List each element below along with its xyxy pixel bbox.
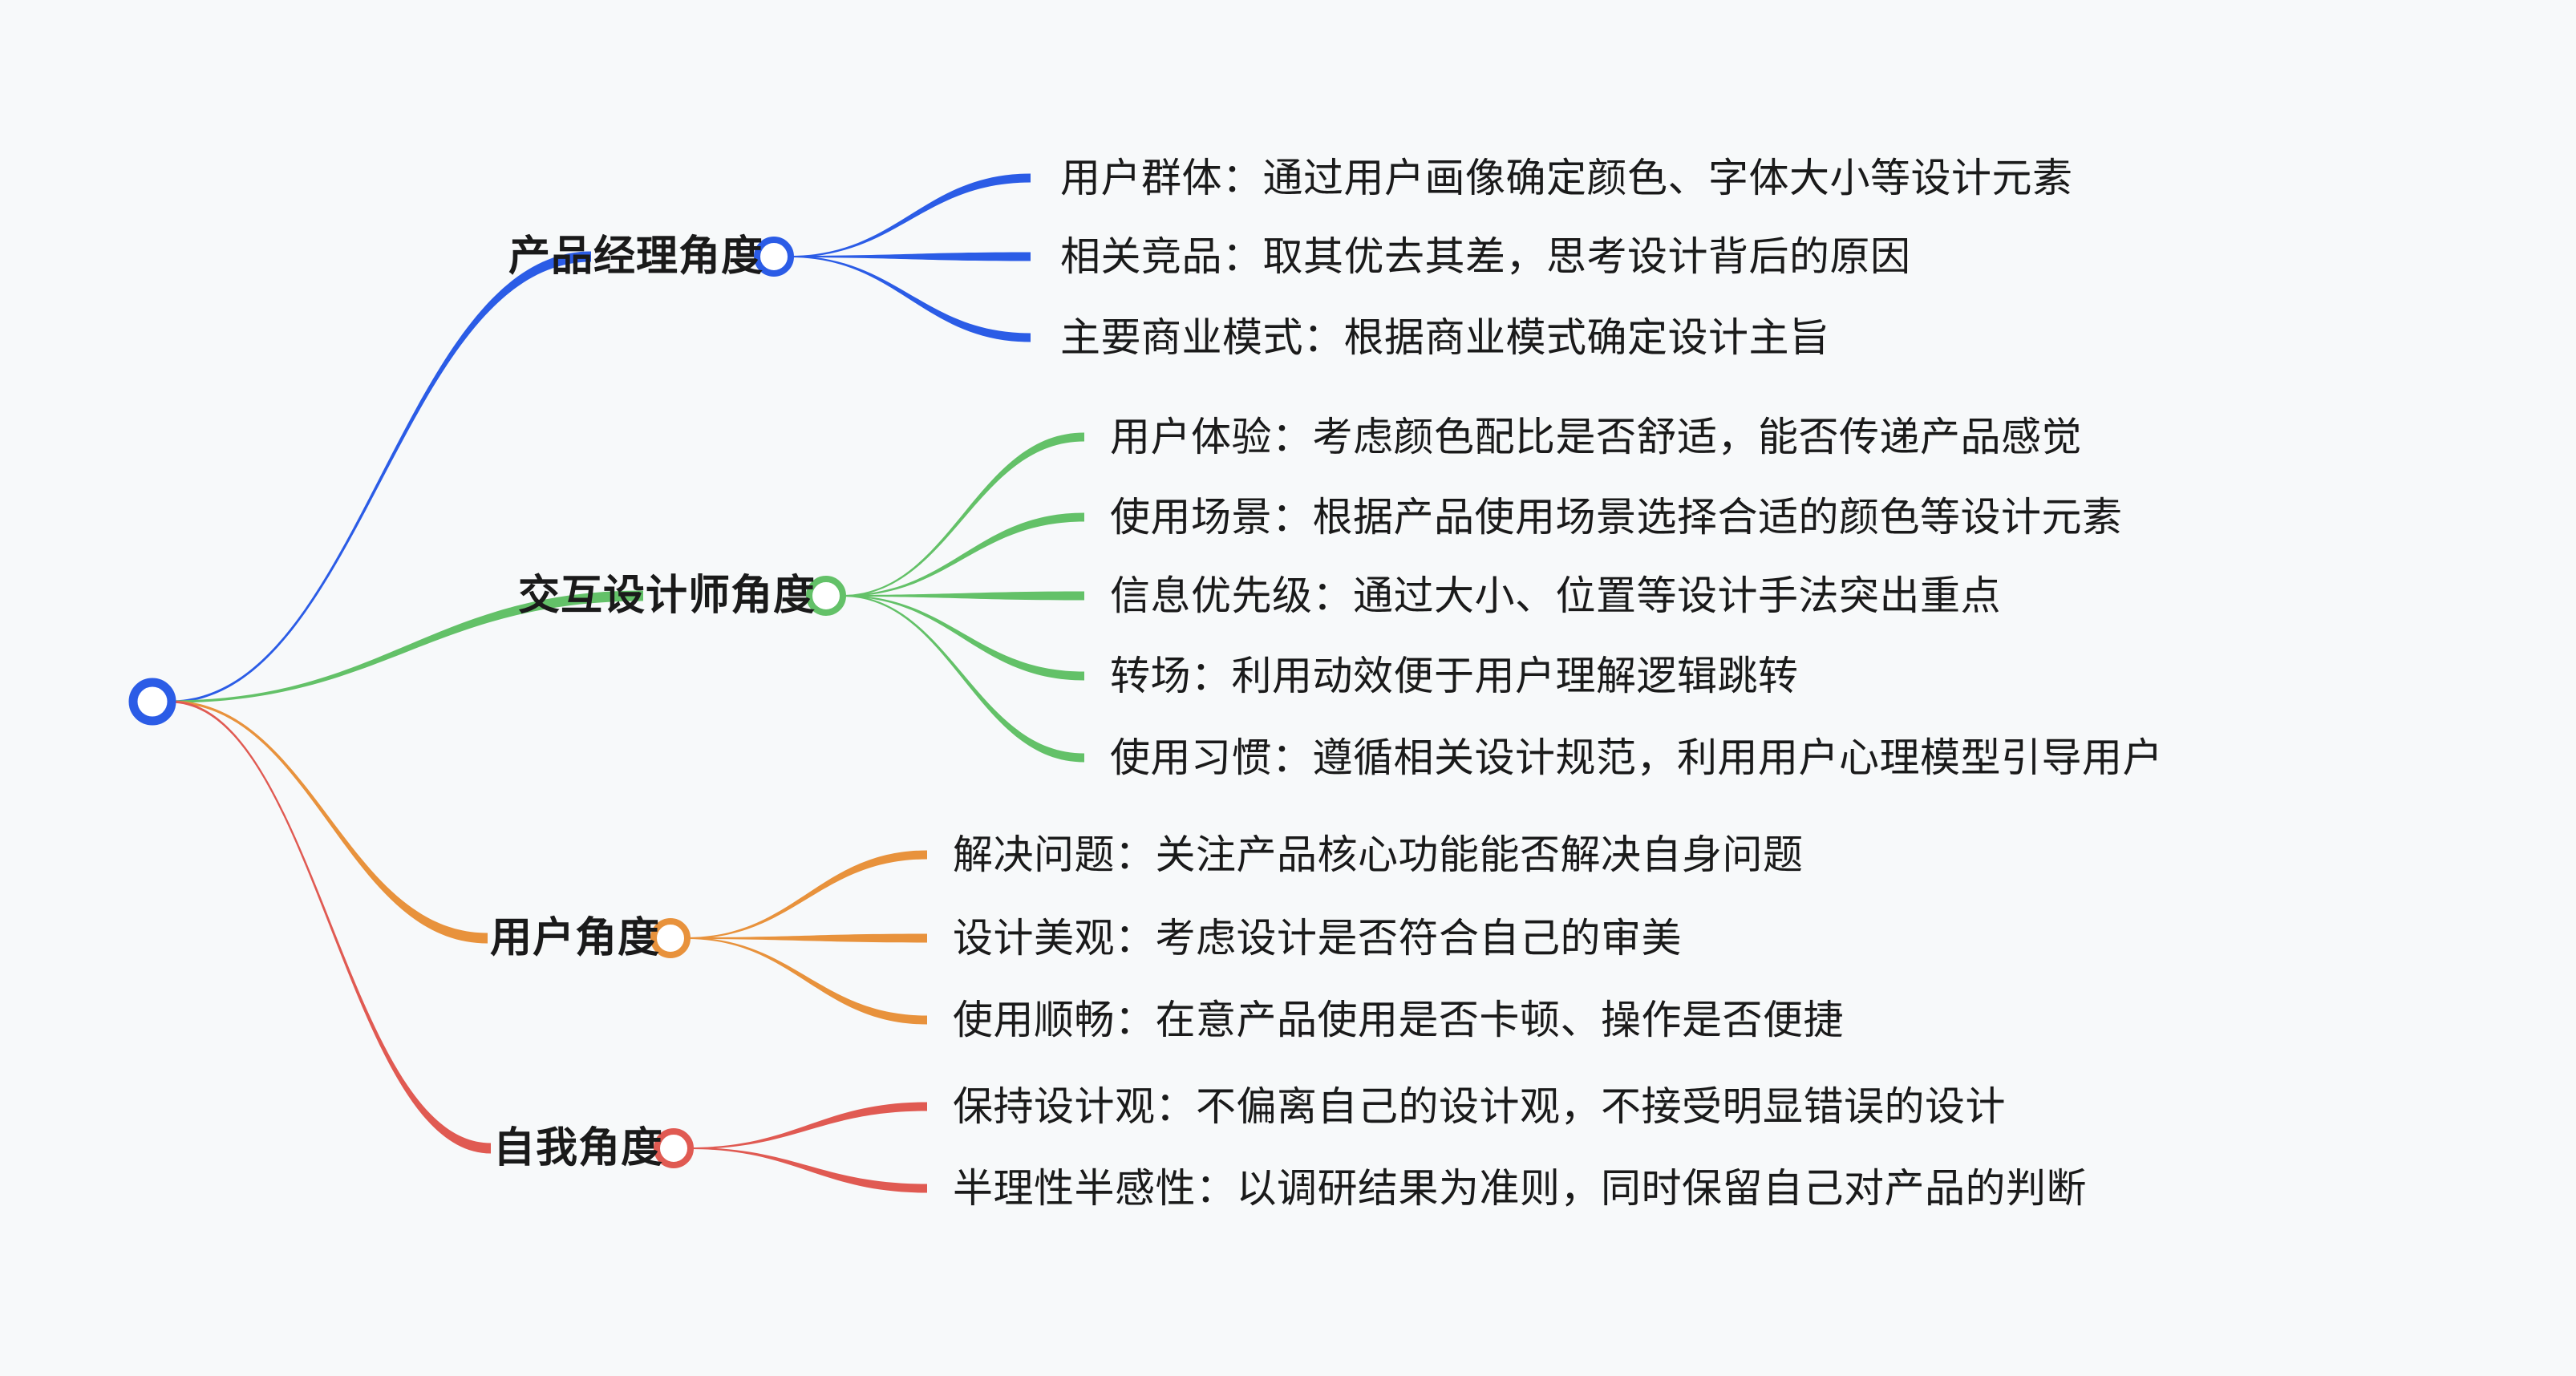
leaf-connector-product-manager-0 <box>790 174 1031 258</box>
leaf-label-product-manager-0[interactable]: 用户群体：通过用户画像确定颜色、字体大小等设计元素 <box>1060 158 2073 198</box>
leaf-connector-interaction-designer-1 <box>842 513 1084 597</box>
leaf-label-interaction-designer-4[interactable]: 使用习惯：遵循相关设计规范，利用用户心理模型引导用户 <box>1110 738 2163 778</box>
leaf-label-interaction-designer-0[interactable]: 用户体验：考虑颜色配比是否舒适，能否传递产品感觉 <box>1110 417 2082 457</box>
leaf-label-product-manager-1[interactable]: 相关竞品：取其优去其差，思考设计背后的原因 <box>1060 237 1911 277</box>
leaf-label-user-1[interactable]: 设计美观：考虑设计是否符合自己的审美 <box>953 918 1682 958</box>
leaf-connector-self-0 <box>690 1103 927 1150</box>
leaf-connector-user-2 <box>687 937 927 1025</box>
trunk-connector-product-manager <box>170 252 591 703</box>
branch-label-interaction-designer[interactable]: 交互设计师角度 <box>518 575 816 617</box>
leaf-label-user-2[interactable]: 使用顺畅：在意产品使用是否卡顿、操作是否便捷 <box>953 1000 1844 1040</box>
leaf-connector-user-0 <box>687 851 927 940</box>
root-node[interactable] <box>133 682 172 721</box>
trunk-connector-user <box>170 701 488 944</box>
branch-label-self[interactable]: 自我角度 <box>493 1127 663 1169</box>
leaf-label-product-manager-2[interactable]: 主要商业模式：根据商业模式确定设计主旨 <box>1060 318 1830 358</box>
leaf-connector-product-manager-2 <box>790 256 1031 342</box>
leaf-label-self-1[interactable]: 半理性半感性：以调研结果为准则，同时保留自己对产品的判断 <box>953 1168 2087 1208</box>
mindmap-canvas: 用户群体：通过用户画像确定颜色、字体大小等设计元素相关竞品：取其优去其差，思考设… <box>0 0 2576 1376</box>
leaf-label-interaction-designer-1[interactable]: 使用场景：根据产品使用场景选择合适的颜色等设计元素 <box>1110 497 2123 537</box>
leaf-connector-interaction-designer-0 <box>842 433 1084 597</box>
leaf-connector-self-1 <box>690 1147 927 1193</box>
branch-label-user[interactable]: 用户角度 <box>490 917 660 959</box>
branch-label-product-manager[interactable]: 产品经理角度 <box>508 236 763 277</box>
leaf-label-user-0[interactable]: 解决问题：关注产品核心功能能否解决自身问题 <box>953 835 1804 875</box>
leaf-connector-interaction-designer-3 <box>842 595 1084 681</box>
leaf-label-interaction-designer-3[interactable]: 转场：利用动效便于用户理解逻辑跳转 <box>1110 656 1799 696</box>
leaf-label-self-0[interactable]: 保持设计观：不偏离自己的设计观，不接受明显错误的设计 <box>953 1087 2006 1127</box>
leaf-connector-interaction-designer-4 <box>842 595 1084 763</box>
leaf-label-interaction-designer-2[interactable]: 信息优先级：通过大小、位置等设计手法突出重点 <box>1110 576 2001 616</box>
